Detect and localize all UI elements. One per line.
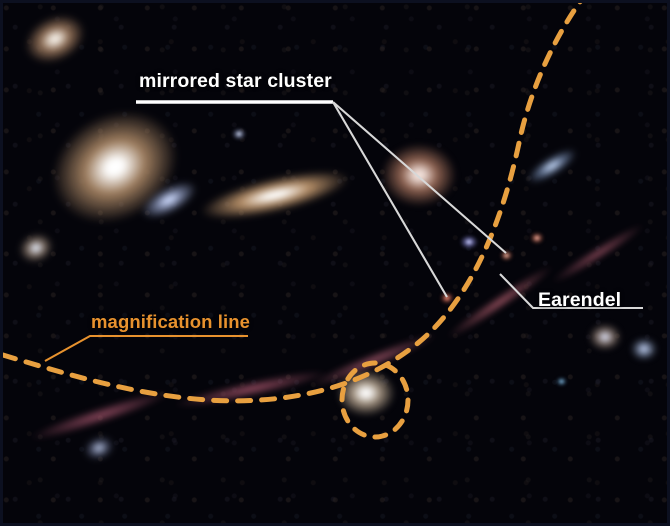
label-magnification-line: magnification line bbox=[91, 311, 250, 333]
screenshot-stage: mirrored star clusterEarendelmagnificati… bbox=[0, 0, 670, 526]
dashed-magnification-curve-group bbox=[3, 3, 585, 437]
deep-field-image: mirrored star clusterEarendelmagnificati… bbox=[3, 3, 667, 523]
label-earendel: Earendel bbox=[538, 289, 621, 312]
magnification-line-leader bbox=[45, 336, 248, 361]
label-mirrored-star-cluster: mirrored star cluster bbox=[139, 70, 332, 93]
mirrored-star-cluster-pointer-a bbox=[333, 102, 447, 297]
annotation-layer bbox=[3, 3, 667, 523]
magnification-line-curve bbox=[3, 3, 585, 401]
mirrored-star-cluster-pointer-b bbox=[333, 102, 506, 253]
magnification-line-loop bbox=[342, 363, 408, 437]
